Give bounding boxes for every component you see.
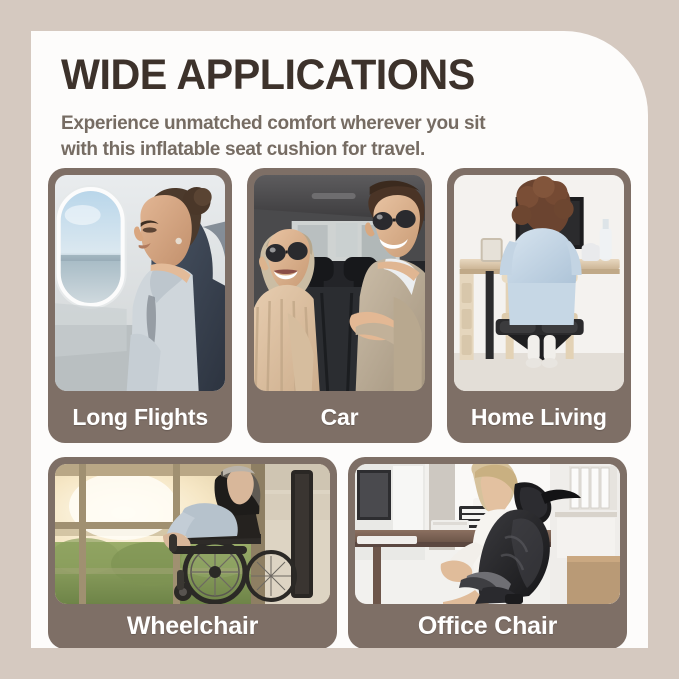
applications-grid: Long Flights (48, 168, 631, 648)
content-panel: WIDE APPLICATIONS Experience unmatched c… (31, 31, 648, 648)
applications-row-1: Long Flights (48, 168, 631, 443)
subtitle-line-1: Experience unmatched comfort wherever yo… (61, 111, 607, 137)
card-label: Car (254, 391, 424, 443)
page-subtitle: Experience unmatched comfort wherever yo… (61, 111, 607, 163)
card-label: Home Living (454, 391, 624, 443)
card-label: Wheelchair (55, 604, 330, 648)
application-card-car[interactable]: Car (247, 168, 431, 443)
applications-row-2: Wheelchair (48, 457, 631, 648)
application-card-wheelchair[interactable]: Wheelchair (48, 457, 337, 648)
long-flights-photo (55, 175, 225, 391)
application-card-long-flights[interactable]: Long Flights (48, 168, 232, 443)
application-card-home-living[interactable]: Home Living (447, 168, 631, 443)
page-title: WIDE APPLICATIONS (61, 54, 599, 97)
subtitle-line-2: with this inflatable seat cushion for tr… (61, 137, 607, 163)
car-photo (254, 175, 424, 391)
home-living-photo (454, 175, 624, 391)
application-card-office-chair[interactable]: Office Chair (348, 457, 627, 648)
card-label: Office Chair (355, 604, 620, 648)
card-label: Long Flights (55, 391, 225, 443)
office-chair-photo (355, 464, 620, 604)
header: WIDE APPLICATIONS Experience unmatched c… (61, 54, 621, 163)
wheelchair-photo (55, 464, 330, 604)
